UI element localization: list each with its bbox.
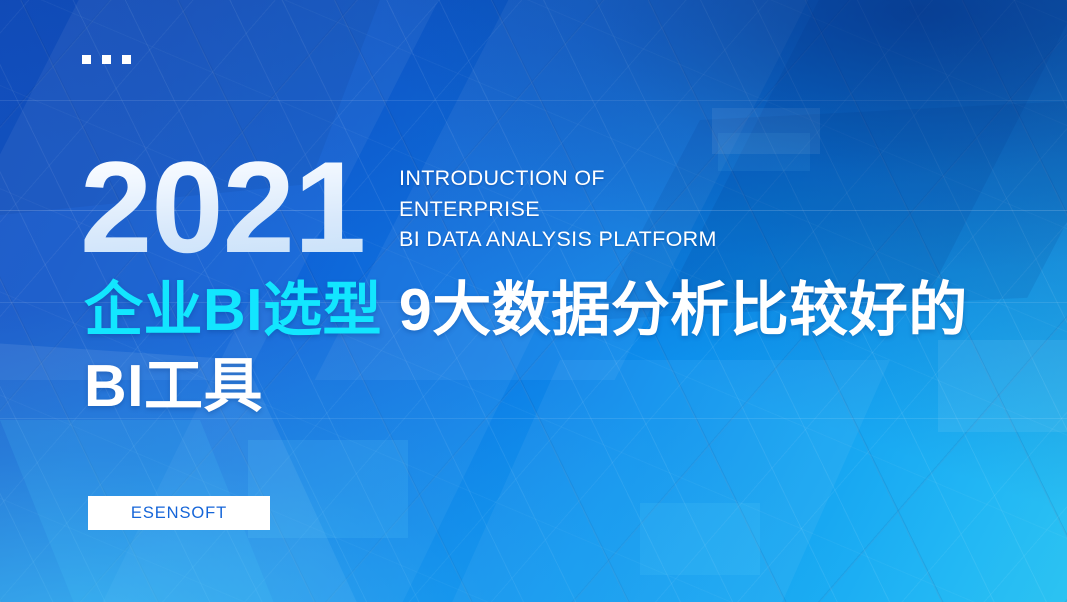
slide-headline: 企业BI选型 9大数据分析比较好的BI工具 [84,272,1004,424]
slide-content: 2021 INTRODUCTION OF ENTERPRISE BI DATA … [0,0,1067,602]
brand-badge[interactable]: ESENSOFT [88,496,270,530]
dot-icon [122,55,131,64]
dot-icon [102,55,111,64]
brand-badge-label: ESENSOFT [131,504,227,523]
dot-icon [82,55,91,64]
year-label: 2021 [80,142,365,272]
presentation-slide: 2021 INTRODUCTION OF ENTERPRISE BI DATA … [0,0,1067,602]
headline-highlight: 企业BI选型 [84,277,382,343]
subtitle-english: INTRODUCTION OF ENTERPRISE BI DATA ANALY… [399,163,717,255]
decorative-dots [82,55,131,64]
